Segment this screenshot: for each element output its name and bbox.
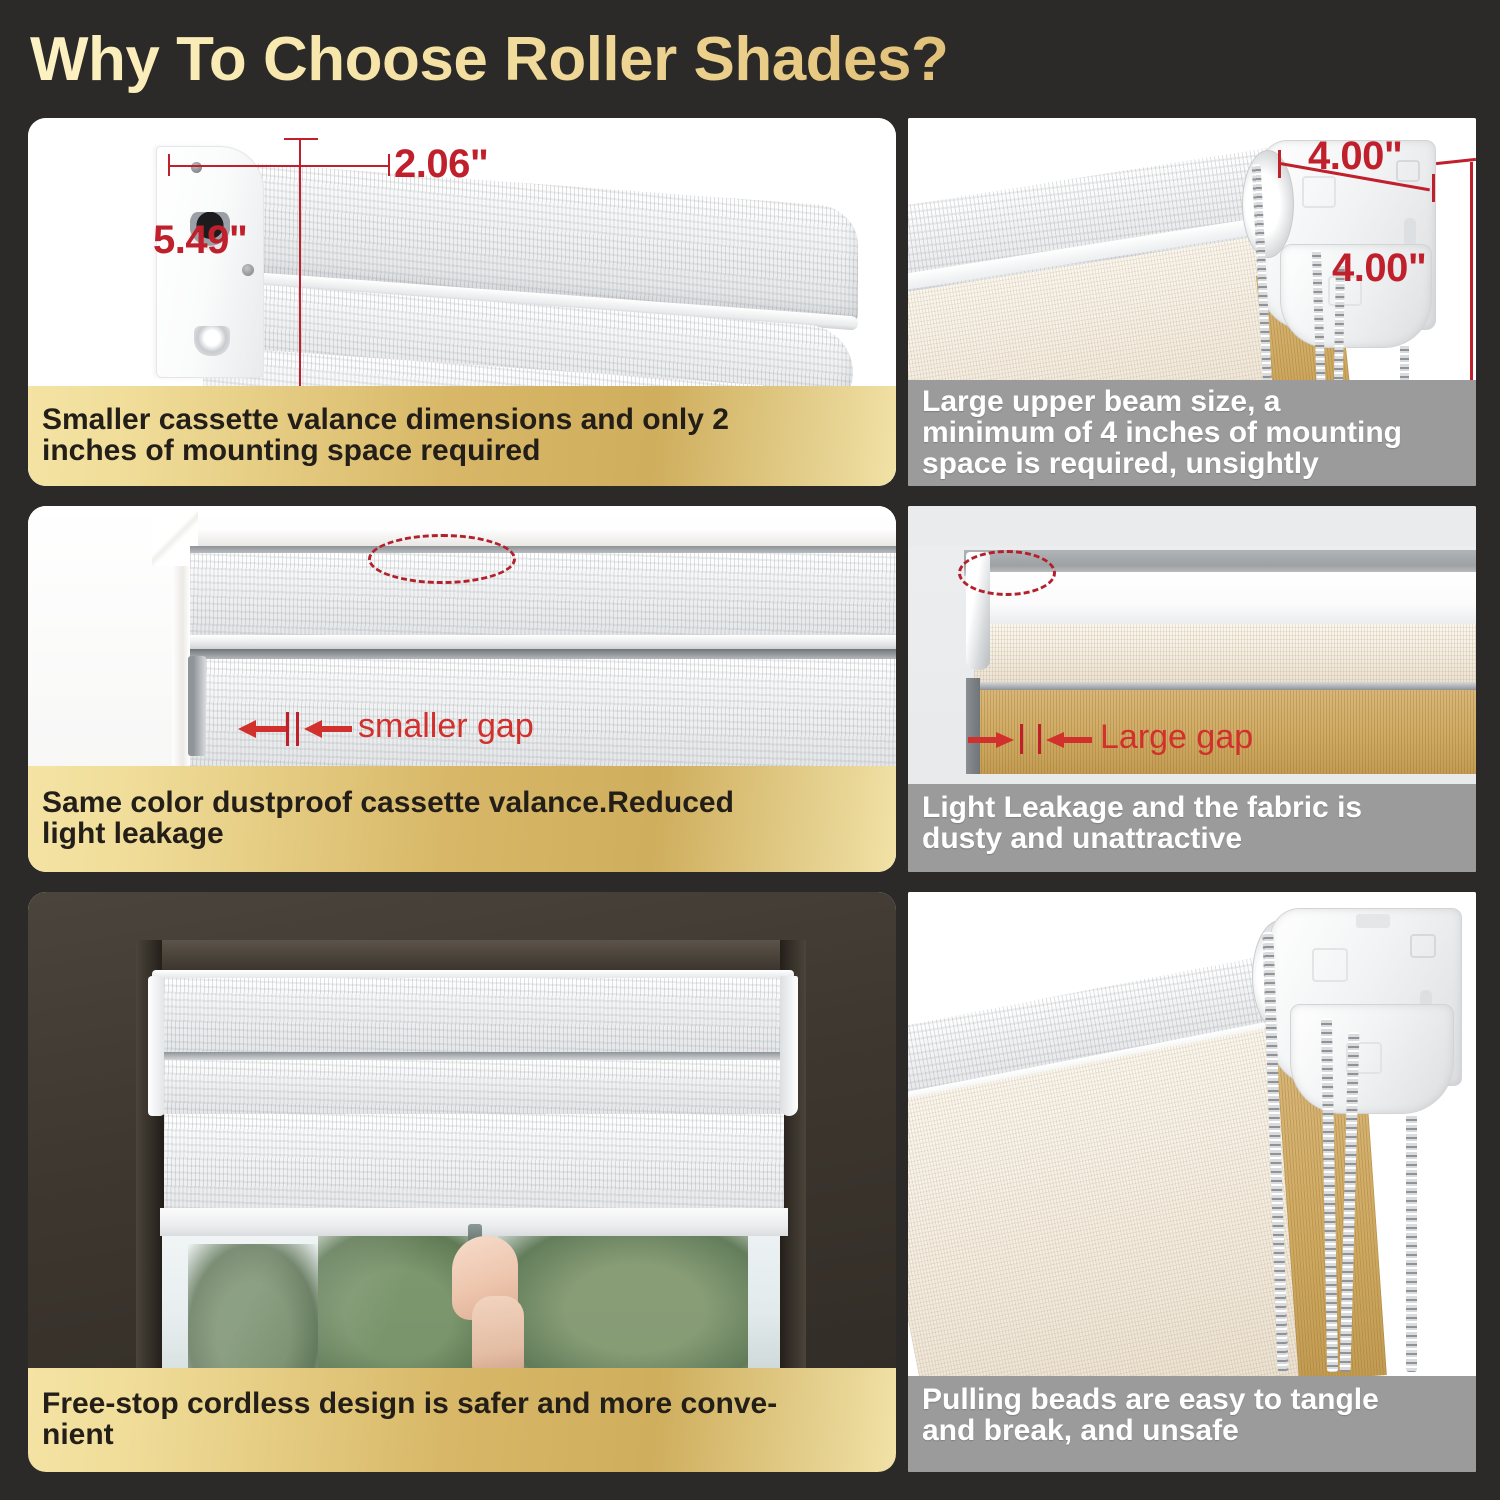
panel-bottom-right: Pulling beads are easy to tangle and bre… — [908, 892, 1476, 1472]
roller-tube-shadow — [190, 649, 896, 659]
caption-top-left: Smaller cassette valance dimensions and … — [28, 386, 896, 486]
valance-left-endcap — [148, 976, 164, 1116]
gap-highlight-ellipse — [958, 550, 1056, 596]
top-width-tick-right — [1432, 174, 1435, 202]
valance-right-endcap — [780, 976, 798, 1116]
gap-marker-left — [1020, 724, 1023, 754]
gap-highlight-ellipse — [368, 534, 516, 584]
bracket-mount-slot-c — [1356, 914, 1390, 928]
height-dimension-tick-top — [284, 138, 318, 140]
caption-text: Light Leakage and the fabric is dusty an… — [922, 792, 1362, 854]
window-frame-top-rail — [190, 530, 896, 546]
width-dimension-line — [168, 165, 390, 167]
gap-marker-left — [286, 712, 289, 746]
height-dimension-label: 5.49" — [153, 218, 247, 263]
hand-forearm — [472, 1296, 524, 1372]
page-title: Why To Choose Roller Shades? — [30, 22, 1470, 98]
caption-bottom-right: Pulling beads are easy to tangle and bre… — [908, 1376, 1476, 1472]
end-cap-screw-lower — [242, 264, 254, 276]
panel-middle-left: smaller gap Same color dustproof cassett… — [28, 506, 896, 872]
gap-arrow-left-icon — [968, 730, 1014, 750]
shade-fabric-cream-band — [974, 624, 1476, 684]
cassette-valance-face — [190, 553, 896, 639]
bead-chain-4 — [1406, 1114, 1417, 1372]
caption-text: Pulling beads are easy to tangle and bre… — [922, 1384, 1379, 1446]
caption-text: Same color dustproof cassette valance.Re… — [42, 787, 734, 849]
gap-arrow-left-icon — [238, 718, 286, 740]
caption-text: Smaller cassette valance dimensions and … — [42, 404, 729, 466]
cassette-top-edge — [190, 546, 896, 553]
cassette-valance-face — [152, 978, 794, 1056]
bracket-logo-upper — [1312, 948, 1348, 982]
caption-text: Free-stop cordless design is safer and m… — [42, 1388, 777, 1450]
caption-middle-left: Same color dustproof cassette valance.Re… — [28, 766, 896, 872]
bracket-logo-upper — [1302, 176, 1336, 208]
width-dimension-tick-right — [388, 154, 390, 176]
caption-top-right: Large upper beam size, a minimum of 4 in… — [908, 380, 1476, 486]
width-dimension-label: 2.06" — [394, 142, 488, 187]
bracket-mount-slot-a — [1410, 934, 1436, 958]
end-cap-bottom-clip — [194, 326, 230, 356]
caption-middle-right: Light Leakage and the fabric is dusty an… — [908, 784, 1476, 872]
width-dimension-tick-left — [168, 154, 170, 176]
top-width-dimension-label: 4.00" — [1308, 134, 1402, 179]
cassette-groove — [158, 1052, 788, 1060]
large-gap-label: Large gap — [1100, 718, 1253, 757]
bracket-mount-slot-b — [1404, 218, 1416, 246]
caption-bottom-left: Free-stop cordless design is safer and m… — [28, 1368, 896, 1472]
light-gap-column — [966, 678, 980, 774]
gap-arrow-right-icon — [1046, 730, 1092, 750]
panel-bottom-left: Free-stop cordless design is safer and m… — [28, 892, 896, 1472]
panel-top-left: 2.06" 5.49" Smaller cassette valance dim… — [28, 118, 896, 486]
panel-middle-right: Large gap Light Leakage and the fabric i… — [908, 506, 1476, 872]
gap-marker-right — [1038, 724, 1041, 754]
top-width-tick-left — [1278, 150, 1281, 178]
gap-arrow-right-icon — [304, 718, 352, 740]
side-height-dimension-label: 4.00" — [1332, 246, 1426, 291]
roller-tube-cover — [152, 1060, 794, 1116]
end-cap-screw-upper — [191, 162, 202, 173]
gap-marker-right — [296, 712, 299, 746]
fabric-band-shadow — [974, 682, 1476, 690]
panel-top-right: 4.00" 4.00" Large upper beam size, a min… — [908, 118, 1476, 486]
roller-left-end — [188, 656, 206, 756]
smaller-gap-label: smaller gap — [358, 707, 534, 746]
cassette-bottom-lip — [190, 635, 896, 649]
caption-text: Large upper beam size, a minimum of 4 in… — [922, 386, 1402, 480]
infographic-root: Why To Choose Roller Shades? 2.06" 5 — [0, 0, 1500, 1500]
wall-upper-shadow — [908, 506, 1476, 546]
window-reveal-top — [136, 940, 806, 972]
